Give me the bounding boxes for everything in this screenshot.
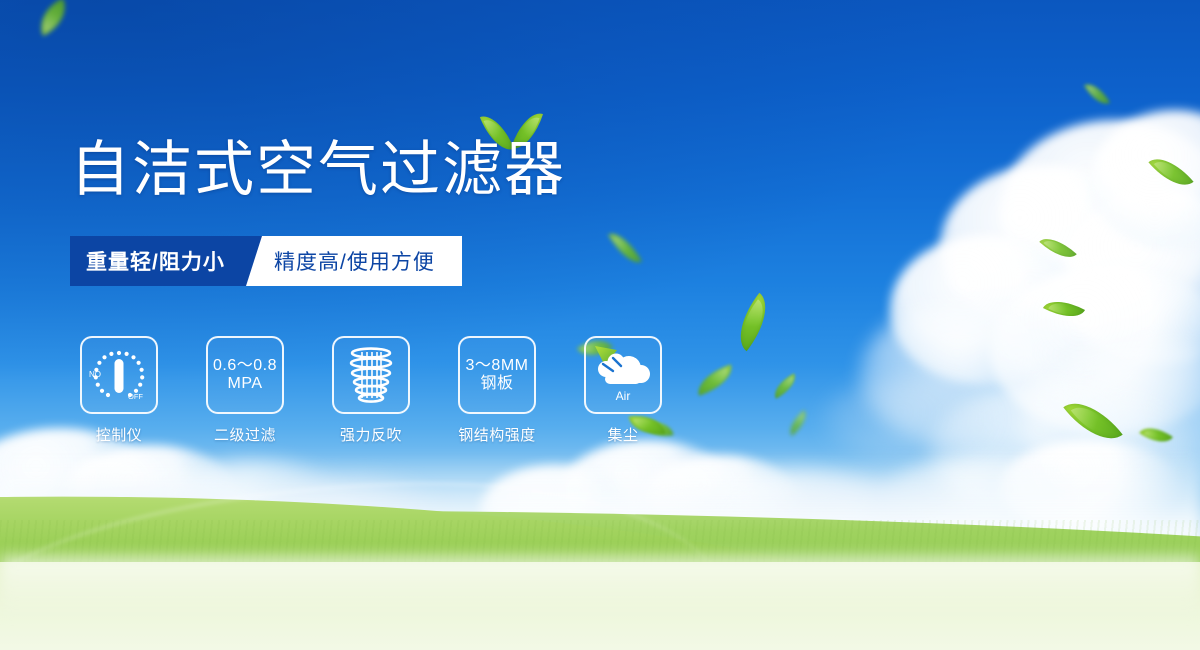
gauge-mark-off: OFF — [128, 392, 143, 401]
page-title: 自洁式空气过滤器 — [70, 140, 566, 200]
gauge-control-icon: NO OFF — [86, 342, 152, 408]
feature-list: NO OFF 控制仪 0.6～0.8 MPA 二级过滤 — [80, 336, 662, 445]
feature-label: 二级过滤 — [206, 424, 284, 445]
feature-item-backblow[interactable]: 强力反吹 — [332, 336, 410, 445]
air-cloud-caption: Air — [616, 389, 631, 403]
feature-icon-box — [332, 336, 410, 414]
grass-light-sheen — [0, 556, 1200, 616]
feature-item-pressure[interactable]: 0.6～0.8 MPA 二级过滤 — [206, 336, 284, 445]
steel-plate-text-icon: 3～8MM 钢板 — [466, 357, 529, 393]
feature-icon-box: Air — [584, 336, 662, 414]
product-hero-banner: 自洁式空气过滤器 重量轻/阻力小 精度高/使用方便 — [0, 0, 1200, 650]
feature-icon-box: 0.6～0.8 MPA — [206, 336, 284, 414]
tagline-left-text: 重量轻/阻力小 — [86, 236, 225, 286]
feature-label: 控制仪 — [80, 424, 158, 445]
feature-item-steel[interactable]: 3～8MM 钢板 钢结构强度 — [458, 336, 536, 445]
feature-icon-box: 3～8MM 钢板 — [458, 336, 536, 414]
feature-icon-box: NO OFF — [80, 336, 158, 414]
feature-label: 强力反吹 — [332, 424, 410, 445]
tagline-bar: 重量轻/阻力小 精度高/使用方便 — [70, 236, 462, 286]
pressure-text-icon: 0.6～0.8 MPA — [213, 357, 277, 393]
feature-item-control[interactable]: NO OFF 控制仪 — [80, 336, 158, 445]
gauge-mark-no: NO — [89, 370, 101, 379]
air-cloud-icon: Air — [591, 344, 655, 406]
feature-label: 钢结构强度 — [444, 424, 550, 445]
tagline-right-text: 精度高/使用方便 — [274, 236, 435, 286]
filter-cartridge-icon — [342, 344, 400, 406]
